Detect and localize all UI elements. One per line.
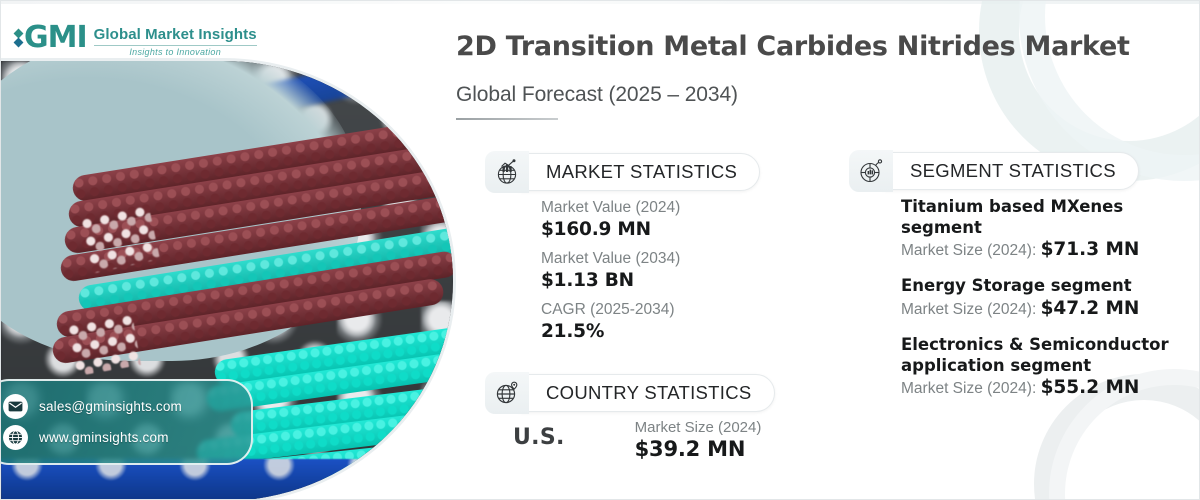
country-statistics-label: COUNTRY STATISTICS [519, 374, 775, 412]
contact-email-row[interactable]: sales@gminsights.com [3, 391, 237, 422]
market-stat-value: $1.13 BN [541, 270, 680, 291]
contact-badge: sales@gminsights.com www.gminsights.com [1, 379, 253, 465]
illustration-panel: sales@gminsights.com www.gminsights.com [1, 61, 453, 500]
market-statistics-header: MARKET STATISTICS [485, 151, 760, 193]
contact-website-text: www.gminsights.com [39, 430, 169, 445]
market-statistics-list: Market Value (2024) $160.9 MN Market Val… [541, 199, 680, 352]
globe-pin-icon [485, 372, 529, 414]
market-stat-label: Market Value (2034) [541, 250, 680, 268]
segment-metric-value: $47.2 MN [1041, 298, 1140, 319]
market-stat-label: CAGR (2025-2034) [541, 301, 680, 319]
market-stat-value: 21.5% [541, 321, 680, 342]
country-metric-value: $39.2 MN [635, 437, 762, 461]
blue-accent-strip [1, 459, 453, 500]
page-subtitle: Global Forecast (2025 – 2034) [456, 83, 738, 107]
segment-item: Electronics & Semiconductor application … [901, 335, 1191, 398]
country-metric: Market Size (2024) $39.2 MN [635, 419, 762, 461]
logo-company-name: Global Market Insights [94, 26, 257, 43]
segment-item: Energy Storage segment Market Size (2024… [901, 276, 1191, 319]
segment-metric-label: Market Size (2024): [901, 380, 1041, 397]
contact-website-row[interactable]: www.gminsights.com [3, 422, 237, 453]
market-stat-label: Market Value (2024) [541, 199, 680, 217]
segment-statistics-list: Titanium based MXenes segment Market Siz… [901, 197, 1191, 414]
donut-chart-icon [849, 150, 893, 192]
country-name: U.S. [513, 419, 565, 450]
logo-divider [94, 45, 257, 46]
logo-tagline: Insights to Innovation [94, 47, 257, 57]
contact-email-text: sales@gminsights.com [39, 399, 182, 414]
page-title: 2D Transition Metal Carbides Nitrides Ma… [456, 31, 1130, 62]
segment-metric-value: $55.2 MN [1041, 377, 1140, 398]
globe-bar-chart-icon [485, 151, 529, 193]
market-stat-row: CAGR (2025-2034) 21.5% [541, 301, 680, 342]
gmi-logo[interactable]: GMI Global Market Insights Insights to I… [15, 23, 257, 57]
segment-metric: Market Size (2024): $55.2 MN [901, 377, 1191, 398]
segment-item: Titanium based MXenes segment Market Siz… [901, 197, 1191, 260]
globe-icon [3, 425, 28, 450]
segment-statistics-header: SEGMENT STATISTICS [849, 150, 1139, 192]
segment-statistics-label: SEGMENT STATISTICS [883, 152, 1139, 190]
segment-name: Electronics & Semiconductor application … [901, 335, 1191, 376]
country-metric-label: Market Size (2024) [635, 419, 762, 436]
segment-metric: Market Size (2024): $71.3 MN [901, 239, 1191, 260]
segment-name: Energy Storage segment [901, 276, 1191, 297]
title-divider [456, 118, 558, 120]
logo-diamond-icon [15, 30, 22, 46]
segment-metric-value: $71.3 MN [1041, 239, 1140, 260]
market-stat-value: $160.9 MN [541, 219, 680, 240]
infographic-page: sales@gminsights.com www.gminsights.com [0, 0, 1200, 500]
country-statistics-header: COUNTRY STATISTICS [485, 372, 775, 414]
segment-metric-label: Market Size (2024): [901, 242, 1041, 259]
logo-initials: GMI [24, 23, 87, 53]
market-stat-row: Market Value (2034) $1.13 BN [541, 250, 680, 291]
market-statistics-label: MARKET STATISTICS [519, 153, 760, 191]
logo-mark: GMI [15, 23, 87, 53]
segment-metric: Market Size (2024): $47.2 MN [901, 298, 1191, 319]
logo-wordmark: Global Market Insights Insights to Innov… [94, 23, 257, 57]
country-statistics-content: U.S. Market Size (2024) $39.2 MN [513, 419, 761, 461]
top-hairline [1, 1, 1200, 4]
market-stat-row: Market Value (2024) $160.9 MN [541, 199, 680, 240]
segment-name: Titanium based MXenes segment [901, 197, 1191, 238]
envelope-icon [3, 394, 28, 419]
segment-metric-label: Market Size (2024): [901, 301, 1041, 318]
